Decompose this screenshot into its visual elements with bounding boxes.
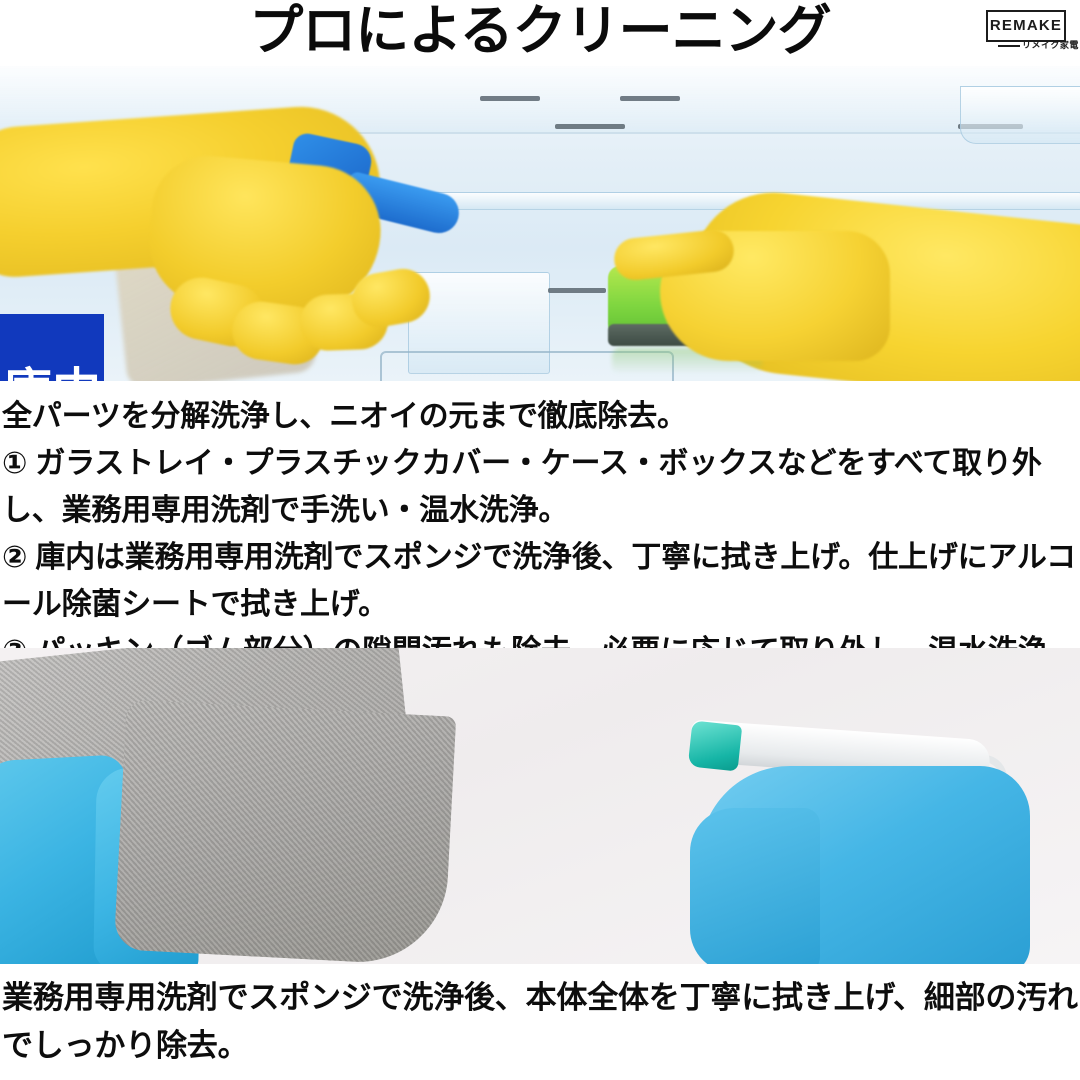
cleaning-service-infographic: プロによるクリーニング REMAKE リメイク家電	[0, 0, 1080, 1080]
photo-exterior-cleaning: 外装	[0, 648, 1080, 964]
photo-fridge-interior: 庫内	[0, 66, 1080, 381]
interior-description-block: 全パーツを分解洗浄し、ニオイの元まで徹底除去。 ① ガラストレイ・プラスチックカ…	[0, 381, 1080, 660]
fridge-shelf-marker	[480, 96, 540, 101]
description-line: 全パーツを分解洗浄し、ニオイの元まで徹底除去。	[0, 393, 1080, 440]
page-title: プロによるクリーニング	[0, 0, 1080, 64]
section-badge-interior: 庫内	[0, 314, 104, 381]
description-line: し、業務用専用洗剤で手洗い・温水洗浄。	[0, 487, 1080, 534]
exterior-description-block: 業務用専用洗剤でスポンジで洗浄後、本体全体を丁寧に拭き上げ、細部の汚れま でしっ…	[0, 964, 1080, 1080]
header: プロによるクリーニング REMAKE リメイク家電	[0, 0, 1080, 66]
description-line: 業務用専用洗剤でスポンジで洗浄後、本体全体を丁寧に拭き上げ、細部の汚れま	[0, 974, 1080, 1022]
fridge-shelf-marker	[555, 124, 625, 129]
description-line: ② 庫内は業務用専用洗剤でスポンジで洗浄後、丁寧に拭き上げ。仕上げにアルコ	[0, 534, 1080, 581]
fridge-shelf-marker	[548, 288, 606, 293]
description-line: ール除菌シートで拭き上げ。	[0, 581, 1080, 628]
badge-label: 庫内	[3, 368, 101, 381]
description-line: でしっかり除去。	[0, 1022, 1080, 1070]
logo-subtitle: リメイク家電	[1022, 38, 1079, 51]
logo-rule	[998, 45, 1020, 47]
blue-glove-fingers-right	[690, 808, 820, 964]
fridge-corner-panel	[960, 86, 1080, 144]
remake-logo: REMAKE リメイク家電	[984, 6, 1072, 56]
description-line: ① ガラストレイ・プラスチックカバー・ケース・ボックスなどをすべて取り外	[0, 440, 1080, 487]
microfiber-cloth-fold	[114, 700, 457, 964]
teal-spray-nozzle-tip	[688, 721, 743, 772]
fridge-shelf-marker	[620, 96, 680, 101]
